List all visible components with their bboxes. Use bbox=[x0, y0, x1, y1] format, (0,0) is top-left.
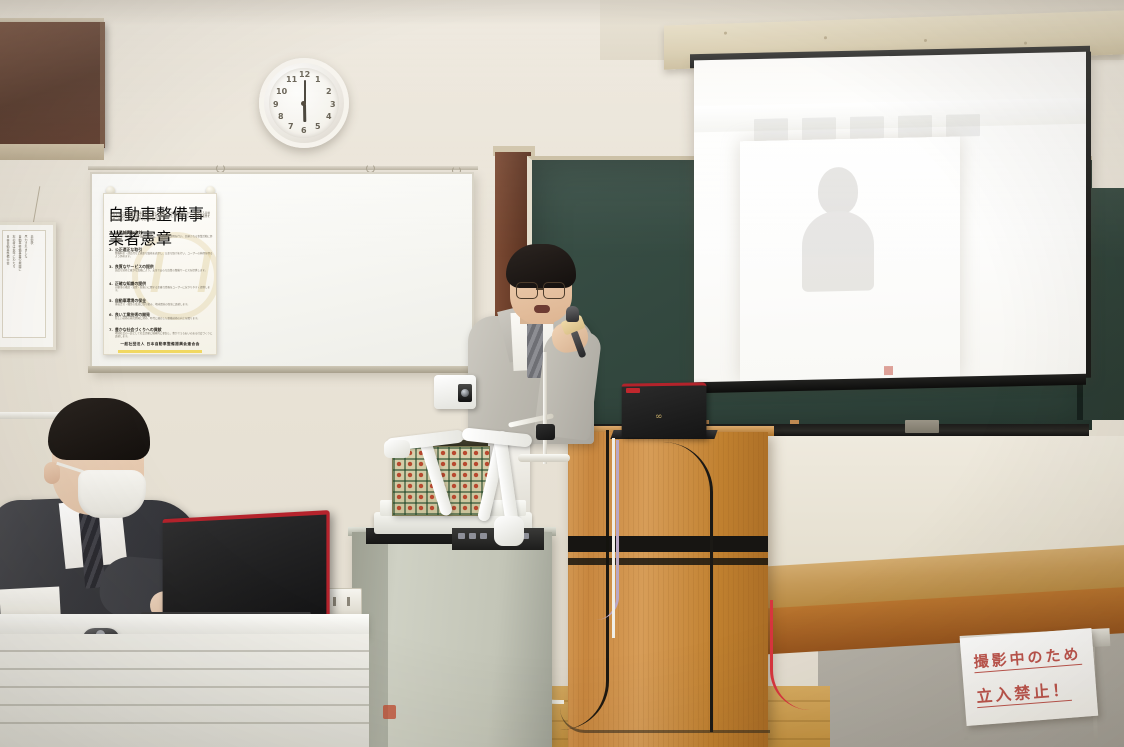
doccam-port[interactable] bbox=[469, 533, 476, 539]
poster-item-number: 2. bbox=[109, 248, 113, 252]
slide-person-silhouette bbox=[802, 166, 872, 288]
laptop-brand-logo: ∞ bbox=[655, 412, 675, 421]
poster-item-body: 排出ガス・騒音の低減に取り組み、地球環境の保全に貢献します。 bbox=[109, 304, 213, 307]
clock-center-pin bbox=[301, 101, 306, 106]
poster-lead-text: わたくしたち自動車整備事業者は、常に自動車ユーザーの立場に立ち、健全なる自動車社… bbox=[110, 213, 210, 222]
desk-surface bbox=[0, 614, 369, 636]
certificate-line: 日本自動車整備士会 bbox=[6, 235, 10, 271]
clock-number: 12 bbox=[299, 71, 310, 79]
outlet-slot bbox=[333, 597, 336, 606]
clock-number: 8 bbox=[278, 113, 284, 121]
slide-thumbnail bbox=[802, 117, 836, 140]
chalk-piece[interactable] bbox=[790, 420, 799, 424]
clock-number: 6 bbox=[301, 127, 307, 135]
poster-item-body: ユーザーに対して公平誠実に応対し、親切丁寧な説明を行い、信頼される事業活動に努め… bbox=[109, 236, 213, 242]
mic-stand-base bbox=[518, 454, 570, 462]
clock-number: 2 bbox=[326, 88, 332, 96]
projection-screen bbox=[694, 52, 1091, 387]
slide-thumbnail-strip bbox=[754, 113, 1034, 141]
certificate-paper: 日本自動車整備士会 右の者は永年にわたり 自動車整備事業の振興に 尽力されました… bbox=[2, 230, 46, 338]
clock-number: 5 bbox=[315, 123, 321, 131]
photo-scene: 12 1 2 3 4 5 6 7 8 9 10 11 日本自動車整備士会 右の者… bbox=[0, 0, 1124, 747]
slide-red-marker bbox=[884, 366, 893, 375]
clock-number: 3 bbox=[330, 101, 336, 109]
poster-item-number: 1. bbox=[109, 231, 113, 235]
desk-panel-line bbox=[0, 668, 369, 670]
whiteboard-tray bbox=[88, 366, 474, 373]
valance-screw bbox=[924, 39, 927, 42]
poster-item-body: 高度な技術と確かな設備により、安全で安心な良質の整備サービスを提供します。 bbox=[109, 270, 213, 273]
desk-panel-line bbox=[0, 650, 369, 652]
cable-white bbox=[596, 438, 615, 638]
silhouette-head bbox=[818, 167, 858, 216]
wall-speaker-cabinet bbox=[0, 22, 105, 148]
sign-line-2: 立入禁止！ bbox=[975, 676, 1072, 708]
desk-panel-line bbox=[0, 686, 369, 688]
mic-stand-pole bbox=[543, 352, 547, 464]
charter-poster: 自動車整備事業者憲章 わたくしたち自動車整備事業者は、常に自動車ユーザーの立場に… bbox=[103, 193, 217, 355]
poster-item-body: 自動車の構造・装置・取扱いに関する正確な情報をユーザーに分かりやすく提供します。 bbox=[109, 287, 213, 293]
glasses-lens-right bbox=[543, 282, 565, 299]
no-entry-sign: 撮影中のため 立入禁止！ bbox=[960, 628, 1098, 726]
slide-thumbnail bbox=[898, 115, 932, 138]
desk-panel-line bbox=[0, 722, 369, 724]
glasses-lens-left bbox=[516, 282, 538, 299]
slide-thumbnail bbox=[946, 114, 980, 137]
desk-panel-line bbox=[0, 704, 369, 706]
clock-number: 10 bbox=[276, 88, 287, 96]
sign-line-1: 撮影中のため bbox=[973, 643, 1082, 673]
clock-number: 11 bbox=[286, 76, 297, 84]
poster-item-body: 新しい技術の研究開発に努め、時代に適応した整備技術の向上を図ります。 bbox=[109, 318, 213, 321]
camera-lens bbox=[461, 389, 469, 397]
whiteboard-rail bbox=[88, 166, 478, 170]
certificate-line: 表彰状 bbox=[30, 235, 34, 271]
certificate-line: 尽力されました bbox=[24, 235, 28, 271]
doccam-hinge[interactable] bbox=[494, 516, 524, 546]
certificate-line: 右の者は永年にわたり bbox=[12, 235, 16, 271]
clock-hour-hand bbox=[303, 104, 306, 122]
silhouette-body bbox=[802, 210, 874, 292]
poster-footer: 一般社団法人 日本自動車整備振興会連合会 bbox=[107, 342, 213, 347]
certificate-line: 自動車整備事業の振興に bbox=[18, 235, 22, 271]
glasses-bridge bbox=[536, 288, 544, 290]
poster-highlight-bar bbox=[118, 350, 202, 353]
cart-red-sticker bbox=[383, 705, 396, 719]
poster-item-body: 地域社会の一員として社会活動に積極的に参加し、豊かでうるおいのある社会づくりに貢… bbox=[109, 333, 213, 339]
valance-screw bbox=[824, 36, 827, 39]
laptop-sticker bbox=[626, 388, 640, 393]
poster-item-number: 3. bbox=[109, 265, 113, 269]
valance-screw bbox=[724, 32, 727, 35]
slide-thumbnail bbox=[754, 118, 788, 141]
face-mask bbox=[78, 470, 146, 518]
microphone-head bbox=[566, 306, 579, 322]
poster-item-body: 整備料金・部品代など適正な価格を表示し、公正な取引を行い、ユーザーの納得を得るよ… bbox=[109, 253, 213, 259]
clock-number: 1 bbox=[315, 76, 321, 84]
poster-item-number: 5. bbox=[109, 299, 113, 303]
valance-screw bbox=[1024, 42, 1027, 45]
floor-cable bbox=[560, 700, 770, 733]
poster-item-number: 7. bbox=[109, 328, 113, 332]
clock-number: 7 bbox=[288, 123, 294, 131]
clock-number: 4 bbox=[326, 113, 332, 121]
mic-stand-clip[interactable] bbox=[536, 424, 555, 440]
poster-item-number: 4. bbox=[109, 282, 113, 286]
outlet-slot bbox=[347, 597, 350, 606]
doccam-light-arm-hinge[interactable] bbox=[384, 440, 410, 458]
doccam-port[interactable] bbox=[458, 533, 465, 539]
presenter-mouth bbox=[534, 305, 550, 313]
blackboard-eraser[interactable] bbox=[905, 420, 939, 433]
clock-number: 9 bbox=[273, 101, 279, 109]
slide-thumbnail bbox=[850, 116, 884, 139]
doccam-port[interactable] bbox=[480, 533, 487, 539]
cabinet-underside bbox=[0, 144, 104, 160]
poster-item-number: 6. bbox=[109, 313, 113, 317]
presenter-hair bbox=[506, 244, 576, 288]
desk-front-panel bbox=[0, 634, 369, 747]
